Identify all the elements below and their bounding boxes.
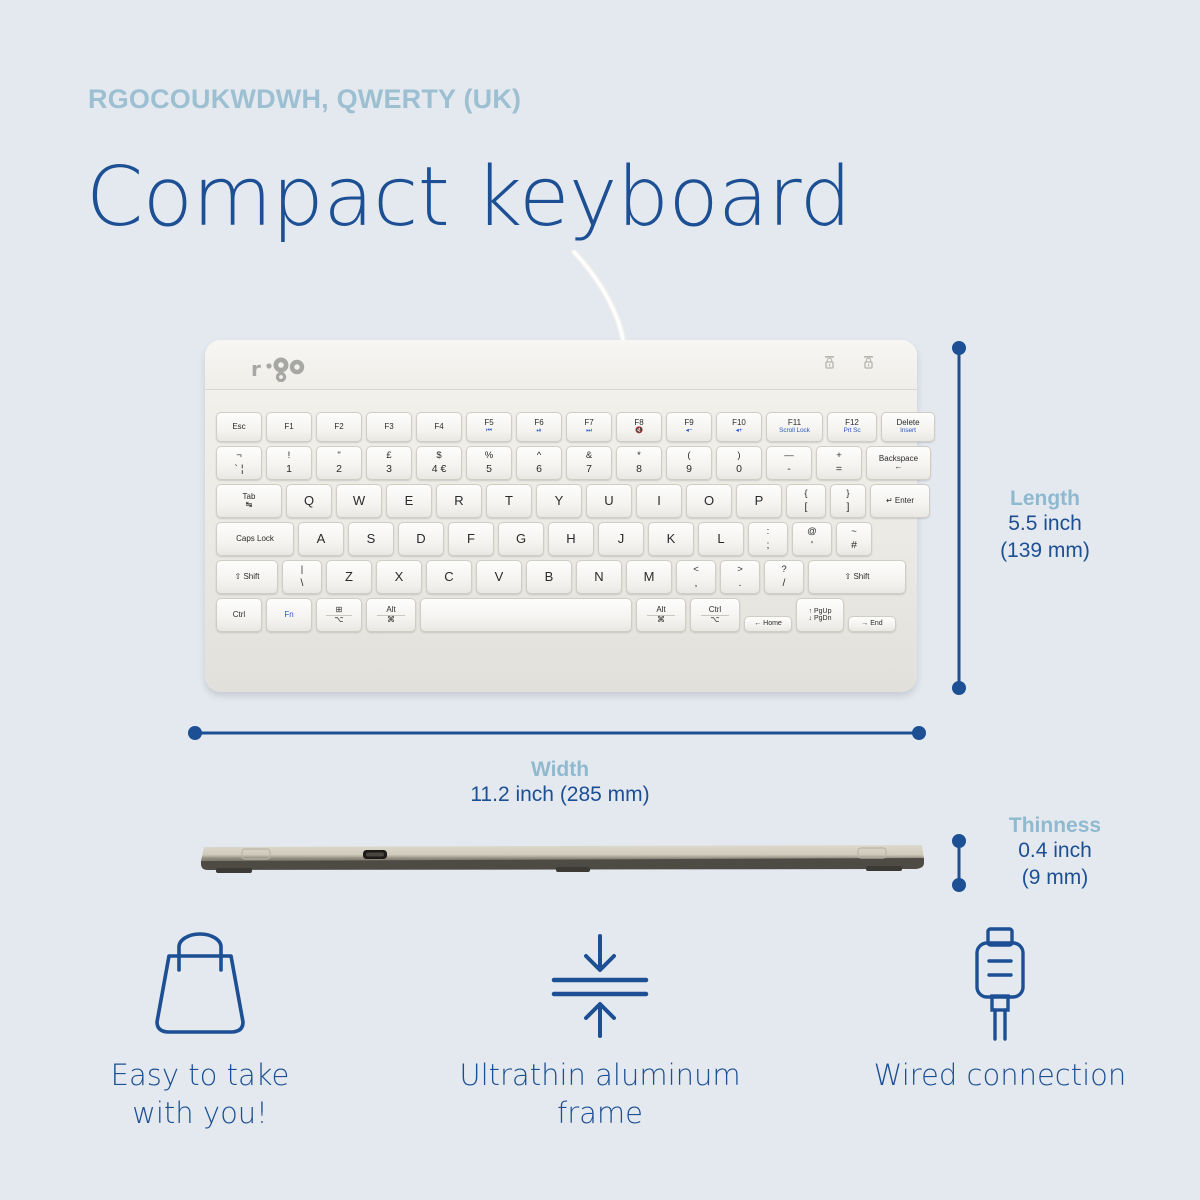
key-space[interactable]: ¬` ¦	[216, 446, 262, 480]
key-legend: Z	[345, 570, 353, 584]
key-legend: L	[717, 532, 724, 546]
key-legend-sub: Scroll Lock	[779, 428, 810, 435]
key-shift[interactable]: ⇧ Shift	[808, 560, 906, 594]
key-legend: Fn	[284, 611, 293, 619]
key-legend-top: Ctrl	[709, 606, 721, 614]
num-lock-indicator-icon	[862, 356, 875, 377]
key-caps-lock[interactable]: Caps Lock	[216, 522, 294, 556]
width-dimension-line	[186, 722, 928, 749]
key-legend-sub: ⏯	[536, 428, 541, 435]
key-legend-top: ?	[781, 565, 786, 575]
key-s[interactable]: S	[348, 522, 394, 556]
key-space[interactable]: ?/	[764, 560, 804, 594]
length-label: Length 5.5 inch (139 mm)	[975, 487, 1115, 565]
key-space[interactable]: £3	[366, 446, 412, 480]
key-backspace[interactable]: Backspace←	[866, 446, 931, 480]
key-legend-bottom: 0	[736, 464, 742, 475]
key-alt[interactable]: Alt⌘	[366, 598, 416, 632]
key-delete[interactable]: DeleteInsert	[881, 412, 935, 442]
key-p[interactable]: P	[736, 484, 782, 518]
thin-arrows-icon	[540, 925, 660, 1043]
shopping-bag-icon	[145, 925, 255, 1043]
key-space[interactable]: +=	[816, 446, 862, 480]
key-legend-bottom: 3	[386, 464, 392, 475]
key-legend-bottom: 6	[536, 464, 542, 475]
key-u[interactable]: U	[586, 484, 632, 518]
key-legend-bottom: 9	[686, 464, 692, 475]
product-infographic: RGOCOUKWDWH, QWERTY (UK) Compact keyboar…	[0, 0, 1200, 1200]
key-space[interactable]: —-	[766, 446, 812, 480]
keyboard-row-number-row: ¬` ¦!1"2£3$4 €%5^6&7*8(9)0—-+=Backspace←	[216, 446, 908, 480]
key-fn[interactable]: Fn	[266, 598, 312, 632]
key-legend: ↵ Enter	[886, 497, 914, 505]
key-space[interactable]: >.	[720, 560, 760, 594]
key-legend: V	[495, 570, 504, 584]
key-legend-sub: Prt Sc	[843, 428, 860, 435]
key-q[interactable]: Q	[286, 484, 332, 518]
key-legend: ⇧ Shift	[235, 573, 260, 581]
width-label: Width 11.2 inch (285 mm)	[360, 758, 760, 809]
keyboard-row-home-row: Caps LockASDFGHJKL:;@'~#	[216, 522, 908, 556]
key-legend-bottom: ,	[695, 578, 698, 589]
key-legend-bottom: ⌘	[657, 616, 665, 624]
key-legend: N	[594, 570, 603, 584]
key-space[interactable]: !1	[266, 446, 312, 480]
key-space[interactable]: "2	[316, 446, 362, 480]
key-legend-bottom: ]	[847, 502, 850, 513]
key-space[interactable]: %5	[466, 446, 512, 480]
rgo-logo: r	[251, 356, 313, 382]
key-legend-bottom: \	[301, 578, 304, 589]
key-legend-top: (	[687, 451, 690, 461]
key-legend: Caps Lock	[236, 535, 274, 543]
feature-ultrathin: Ultrathin aluminum frame	[400, 925, 800, 1132]
key-legend-sub: ←	[895, 463, 903, 471]
key-legend-bottom: ⌥	[334, 616, 343, 624]
length-value-mm: (139 mm)	[975, 538, 1115, 565]
key-legend: C	[444, 570, 453, 584]
key-legend: E	[405, 494, 414, 508]
key-esc[interactable]: Esc	[216, 412, 262, 442]
thinness-label: Thinness 0.4 inch (9 mm)	[980, 814, 1130, 892]
key-legend-top: |	[301, 565, 303, 575]
key-legend-top: @	[807, 527, 817, 537]
key-legend: M	[644, 570, 655, 584]
length-dimension-line	[947, 340, 971, 701]
key-legend: O	[704, 494, 714, 508]
key-space[interactable]: ~#	[836, 522, 872, 556]
key-f6[interactable]: F6⏯	[516, 412, 562, 442]
key-f[interactable]: F	[448, 522, 494, 556]
length-value-inch: 5.5 inch	[975, 511, 1115, 538]
key-h[interactable]: H	[548, 522, 594, 556]
feature-caption-line2: frame	[459, 1095, 740, 1133]
key-legend-top: £	[386, 451, 391, 461]
key-legend-sub: ⏮	[486, 428, 492, 435]
key-d[interactable]: D	[398, 522, 444, 556]
feature-caption: Wired connection	[874, 1057, 1127, 1095]
key-legend-sub: Insert	[900, 428, 916, 435]
key-l[interactable]: L	[698, 522, 744, 556]
key-f9[interactable]: F9◂−	[666, 412, 712, 442]
key-legend-top: !	[288, 451, 291, 461]
key-space[interactable]: }]	[830, 484, 866, 518]
thinness-caption: Thinness	[980, 814, 1130, 838]
key-legend: D	[416, 532, 425, 546]
feature-caption: Easy to take with you!	[111, 1057, 290, 1132]
key-legend-top: ↑ PgUp	[809, 608, 832, 615]
key-f1[interactable]: F1	[266, 412, 312, 442]
keyboard-row-modifier-row: CtrlFn⊞⌥Alt⌘Alt⌘Ctrl⌥← Home↑ PgUp↓ PgDn→…	[216, 598, 908, 632]
key-legend-bottom: 1	[286, 464, 292, 475]
key-pgup[interactable]: ↑ PgUp↓ PgDn	[796, 598, 844, 632]
key-legend: X	[395, 570, 404, 584]
caps-lock-indicator-icon	[823, 356, 836, 377]
usb-plug-icon	[955, 925, 1045, 1043]
key-j[interactable]: J	[598, 522, 644, 556]
key-legend-sub: ↹	[246, 501, 253, 509]
key-legend-top: >	[737, 565, 743, 575]
key-space[interactable]: ^6	[516, 446, 562, 480]
key-ctrl[interactable]: Ctrl⌥	[690, 598, 740, 632]
key-legend: J	[618, 532, 625, 546]
key-space[interactable]: :;	[748, 522, 788, 556]
key-legend-top: "	[337, 451, 340, 461]
length-caption: Length	[975, 487, 1115, 511]
keyboard-row-qwerty-row: Tab↹QWERTYUIOP{[}]↵ Enter	[216, 484, 908, 518]
key-space[interactable]: *8	[616, 446, 662, 480]
key-alt[interactable]: Alt⌘	[636, 598, 686, 632]
key-i[interactable]: I	[636, 484, 682, 518]
key-legend: T	[505, 494, 513, 508]
feature-caption-line1: Wired connection	[874, 1057, 1127, 1095]
key-legend: ⇧ Shift	[845, 573, 870, 581]
key-legend-top: )	[737, 451, 740, 461]
key-legend-sub: 🔇	[635, 428, 643, 435]
key-legend-top: %	[485, 451, 493, 461]
key-legend-top: <	[693, 565, 699, 575]
product-sku: RGOCOUKWDWH, QWERTY (UK)	[88, 84, 521, 115]
key-t[interactable]: T	[486, 484, 532, 518]
key-legend: P	[755, 494, 764, 508]
key-shift[interactable]: ⇧ Shift	[216, 560, 278, 594]
key-legend: → End	[861, 620, 882, 627]
key-legend-bottom: ↓ PgDn	[809, 615, 832, 622]
key-legend-top: Alt	[656, 606, 665, 614]
key-a[interactable]: A	[298, 522, 344, 556]
thinness-dimension-line	[947, 832, 971, 899]
key-legend: B	[545, 570, 554, 584]
key-legend-bottom: 2	[336, 464, 342, 475]
key-legend: Q	[304, 494, 314, 508]
key-space[interactable]: {[	[786, 484, 826, 518]
key-legend: A	[317, 532, 326, 546]
key-legend: Ctrl	[233, 611, 245, 619]
key-b[interactable]: B	[526, 560, 572, 594]
key-legend: F3	[384, 423, 393, 431]
key-legend-bottom: ` ¦	[234, 464, 243, 475]
key-legend-bottom: [	[805, 502, 808, 513]
key-f11[interactable]: F11Scroll Lock	[766, 412, 823, 442]
key-z[interactable]: Z	[326, 560, 372, 594]
feature-caption-line2: with you!	[111, 1095, 290, 1133]
key-legend: ← Home	[754, 620, 782, 627]
key-legend-top: +	[836, 451, 842, 461]
key-legend-top: Alt	[386, 606, 395, 614]
key-legend-bottom: ⌘	[387, 616, 395, 624]
key-space[interactable]: &7	[566, 446, 612, 480]
key-legend-top: {	[804, 489, 807, 499]
key-c[interactable]: C	[426, 560, 472, 594]
key-r[interactable]: R	[436, 484, 482, 518]
key-legend-bottom: -	[787, 464, 791, 475]
key-legend: F1	[284, 423, 293, 431]
feature-caption: Ultrathin aluminum frame	[459, 1057, 740, 1132]
feature-row: Easy to take with you! Ultrathin aluminu…	[0, 925, 1200, 1132]
key-ctrl[interactable]: Ctrl	[216, 598, 262, 632]
key-legend: F2	[334, 423, 343, 431]
key-grid: EscF1F2F3F4F5⏮F6⏯F7⏭F8🔇F9◂−F10◂+F11Scrol…	[216, 412, 908, 636]
key-legend-bottom: '	[811, 540, 813, 551]
key-tab[interactable]: Tab↹	[216, 484, 282, 518]
key-legend: S	[367, 532, 376, 546]
key-y[interactable]: Y	[536, 484, 582, 518]
key-m[interactable]: M	[626, 560, 672, 594]
key-legend: U	[604, 494, 613, 508]
key-space[interactable]	[420, 598, 632, 632]
thinness-value-mm: (9 mm)	[980, 865, 1130, 892]
key-v[interactable]: V	[476, 560, 522, 594]
key-legend-bottom: 8	[636, 464, 642, 475]
keyboard-row-shift-row: ⇧ Shift|\ZXCVBNM<,>.?/⇧ Shift	[216, 560, 908, 594]
key-legend: F	[467, 532, 475, 546]
key-legend-top: }	[846, 489, 849, 499]
key-legend-top: ~	[851, 527, 857, 537]
key-legend-top: ¬	[236, 451, 242, 461]
key-legend-bottom: #	[851, 540, 857, 551]
key-legend-top: $	[436, 451, 441, 461]
key-legend: Esc	[232, 423, 245, 431]
key-w[interactable]: W	[336, 484, 382, 518]
thinness-value-inch: 0.4 inch	[980, 838, 1130, 865]
key-space[interactable]: @'	[792, 522, 832, 556]
key-legend: H	[566, 532, 575, 546]
page-title: Compact keyboard	[86, 150, 851, 245]
key-legend-bottom: 7	[586, 464, 592, 475]
key-f2[interactable]: F2	[316, 412, 362, 442]
key-end[interactable]: → End	[848, 616, 896, 632]
key-legend-top: ^	[537, 451, 541, 461]
key-space[interactable]: (9	[666, 446, 712, 480]
key-legend-bottom: /	[783, 578, 786, 589]
key-f5[interactable]: F5⏮	[466, 412, 512, 442]
key-legend: W	[353, 494, 365, 508]
key-k[interactable]: K	[648, 522, 694, 556]
key-space[interactable]: <,	[676, 560, 716, 594]
svg-text:r: r	[251, 357, 261, 381]
feature-portability: Easy to take with you!	[0, 925, 400, 1132]
key-o[interactable]: O	[686, 484, 732, 518]
feature-caption-line1: Ultrathin aluminum	[459, 1057, 740, 1095]
key-legend-bottom: .	[739, 578, 742, 589]
keyboard-top-view: r	[205, 340, 917, 692]
key-legend-sub: ⏭	[586, 428, 592, 435]
key-f3[interactable]: F3	[366, 412, 412, 442]
key-enter[interactable]: ↵ Enter	[870, 484, 930, 518]
key-legend-bottom: 4 €	[432, 464, 447, 475]
width-caption: Width	[360, 758, 760, 782]
width-value: 11.2 inch (285 mm)	[360, 782, 760, 809]
key-legend-bottom: 5	[486, 464, 492, 475]
feature-wired: Wired connection	[800, 925, 1200, 1132]
key-n[interactable]: N	[576, 560, 622, 594]
keyboard-row-function-row: EscF1F2F3F4F5⏮F6⏯F7⏭F8🔇F9◂−F10◂+F11Scrol…	[216, 412, 908, 442]
key-space[interactable]: |\	[282, 560, 322, 594]
key-f4[interactable]: F4	[416, 412, 462, 442]
key-f8[interactable]: F8🔇	[616, 412, 662, 442]
key-legend: Y	[555, 494, 564, 508]
key-home[interactable]: ← Home	[744, 616, 792, 632]
key-g[interactable]: G	[498, 522, 544, 556]
key-f12[interactable]: F12Prt Sc	[827, 412, 877, 442]
key-legend-bottom: ;	[767, 540, 770, 551]
key-space[interactable]: ⊞⌥	[316, 598, 362, 632]
key-space[interactable]: )0	[716, 446, 762, 480]
key-legend-top: —	[784, 451, 794, 461]
key-legend-bottom: ⌥	[710, 616, 719, 624]
key-legend: F4	[434, 423, 443, 431]
key-legend-top: :	[767, 527, 770, 537]
key-legend: K	[667, 532, 676, 546]
key-x[interactable]: X	[376, 560, 422, 594]
key-legend: G	[516, 532, 526, 546]
key-space[interactable]: $4 €	[416, 446, 462, 480]
key-f7[interactable]: F7⏭	[566, 412, 612, 442]
key-legend: I	[657, 494, 661, 508]
key-legend: R	[454, 494, 463, 508]
feature-caption-line1: Easy to take	[111, 1057, 290, 1095]
key-legend-top: &	[586, 451, 592, 461]
key-legend-bottom: =	[836, 464, 842, 475]
key-e[interactable]: E	[386, 484, 432, 518]
key-legend-sub: ◂−	[686, 428, 693, 435]
keyboard-side-profile	[198, 833, 928, 888]
key-legend-top: *	[637, 451, 641, 461]
status-indicators	[823, 356, 875, 377]
key-f10[interactable]: F10◂+	[716, 412, 762, 442]
key-legend-top: ⊞	[336, 606, 343, 614]
key-legend-sub: ◂+	[736, 428, 743, 435]
